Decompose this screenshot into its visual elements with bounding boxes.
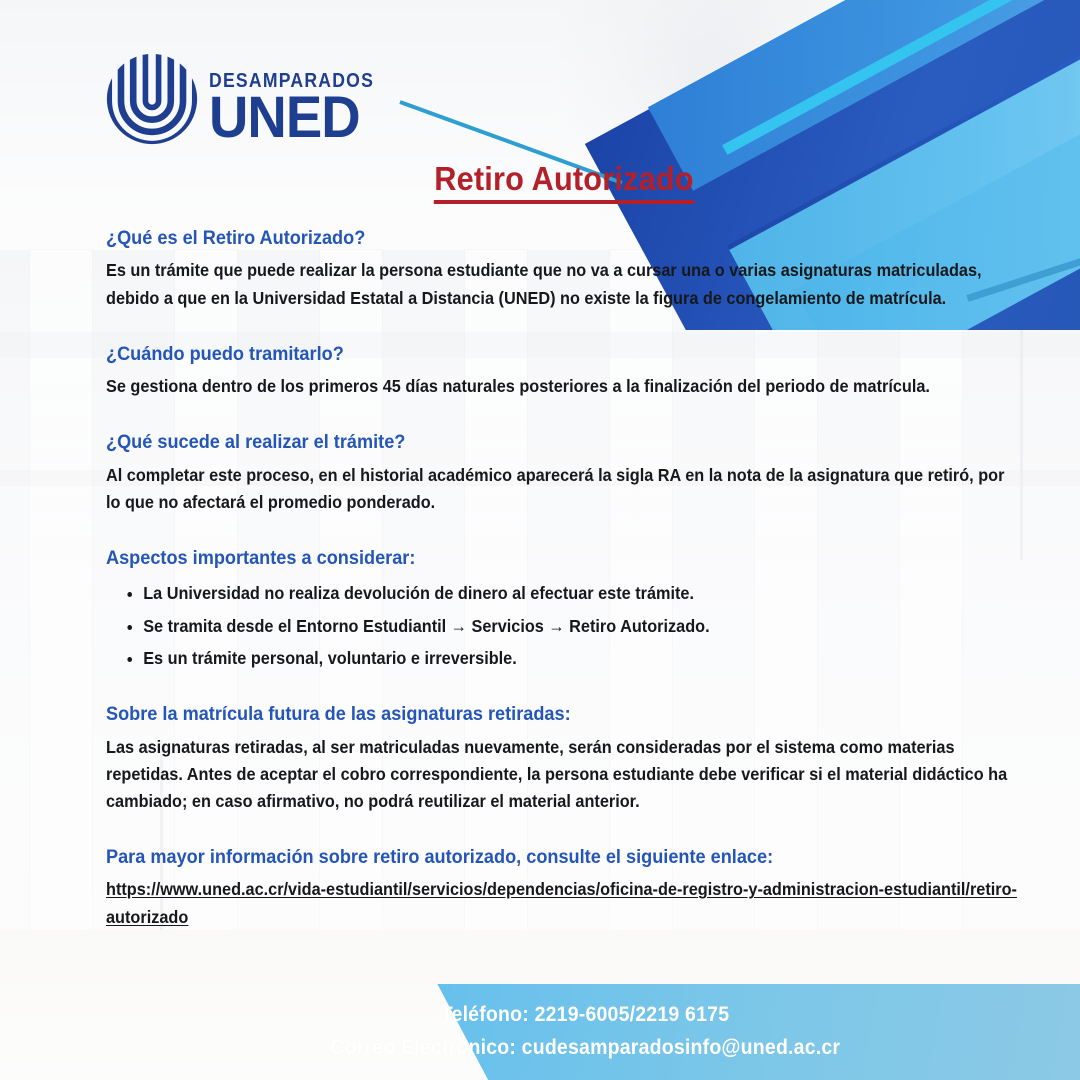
- section-when: ¿Cuándo puedo tramitarlo? Se gestiona de…: [106, 342, 1022, 401]
- uned-logo: DESAMPARADOS UNED: [105, 52, 397, 146]
- section-heading: Para mayor información sobre retiro auto…: [106, 845, 958, 869]
- footer-phone: Teléfono: 2219-6005/2219 6175: [441, 999, 729, 1032]
- footer-email: Correo Electrónico: cudesamparadosinfo@u…: [330, 1032, 840, 1065]
- important-aspects-list: La Universidad no realiza devolución de …: [106, 577, 1022, 674]
- poster-canvas: DESAMPARADOS UNED Retiro Autorizado ¿Qué…: [0, 0, 1080, 1080]
- footer-banner: Teléfono: 2219-6005/2219 6175 Correo Ele…: [0, 984, 1080, 1080]
- retiro-autorizado-link[interactable]: https://www.uned.ac.cr/vida-estudiantil/…: [106, 876, 1022, 930]
- section-heading: Sobre la matrícula futura de las asignat…: [106, 702, 958, 726]
- section-future-enrollment: Sobre la matrícula futura de las asignat…: [106, 702, 1022, 815]
- page-title-text: Retiro Autorizado: [434, 160, 693, 204]
- section-heading: ¿Cuándo puedo tramitarlo?: [106, 342, 958, 366]
- list-item: Es un trámite personal, voluntario e irr…: [143, 642, 1022, 674]
- list-item: Se tramita desde el Entorno Estudiantil …: [143, 610, 1022, 642]
- section-heading: Aspectos importantes a considerar:: [106, 546, 958, 570]
- section-more-info-link: Para mayor información sobre retiro auto…: [106, 845, 1022, 931]
- section-what-happens: ¿Qué sucede al realizar el trámite? Al c…: [106, 430, 1022, 516]
- footer-contact: Teléfono: 2219-6005/2219 6175 Correo Ele…: [0, 984, 1080, 1080]
- page-title: Retiro Autorizado: [138, 160, 990, 200]
- section-heading: ¿Qué es el Retiro Autorizado?: [106, 226, 958, 250]
- section-heading: ¿Qué sucede al realizar el trámite?: [106, 430, 958, 454]
- logo-wordmark: UNED: [209, 93, 385, 142]
- poster-content: Retiro Autorizado ¿Qué es el Retiro Auto…: [106, 160, 1022, 950]
- section-important-aspects: Aspectos importantes a considerar: La Un…: [106, 546, 1022, 675]
- section-body: Al completar este proceso, en el histori…: [106, 462, 1022, 516]
- uned-logo-text: DESAMPARADOS UNED: [209, 71, 397, 146]
- section-what-is: ¿Qué es el Retiro Autorizado? Es un trám…: [106, 226, 1022, 312]
- section-body: Se gestiona dentro de los primeros 45 dí…: [106, 373, 1022, 400]
- list-item: La Universidad no realiza devolución de …: [143, 577, 1022, 609]
- section-body: Es un trámite que puede realizar la pers…: [106, 257, 1022, 311]
- uned-logo-mark-icon: [105, 52, 199, 146]
- section-body: Las asignaturas retiradas, al ser matric…: [106, 734, 1022, 815]
